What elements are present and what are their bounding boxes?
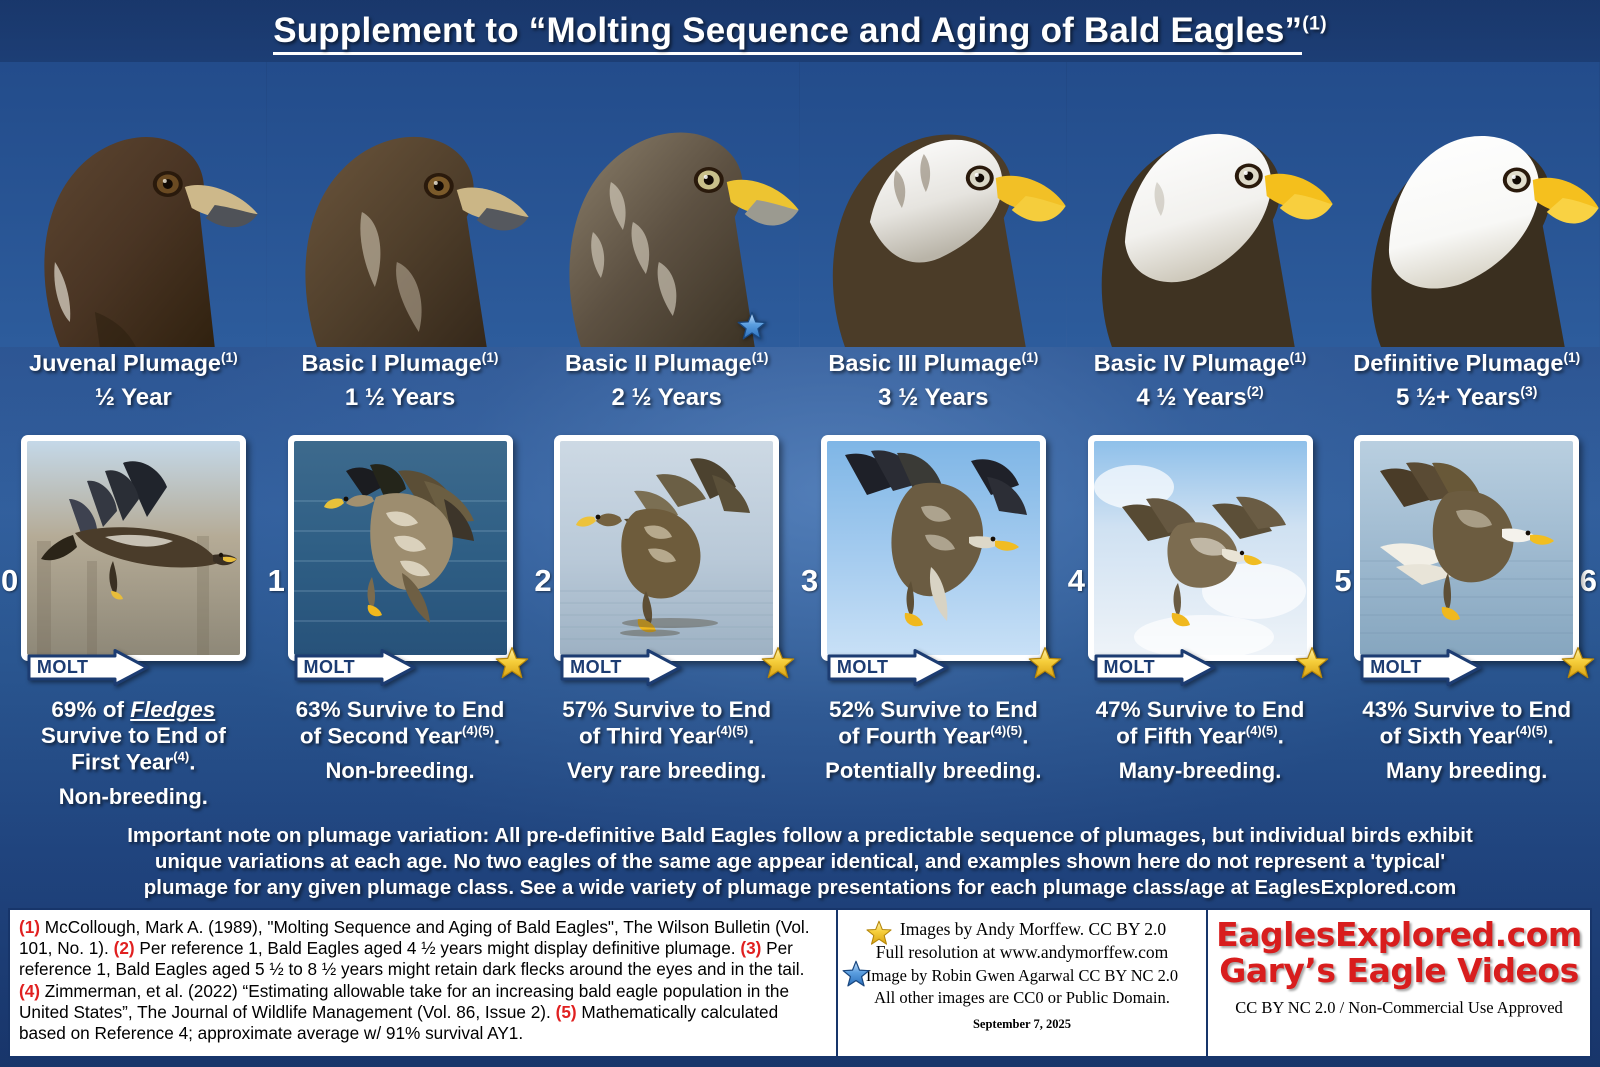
- logo-license-text: CC BY NC 2.0 / Non-Commercial Use Approv…: [1212, 998, 1586, 1018]
- eagle-head-basic-3-icon: [800, 62, 1067, 347]
- plumage-label-5: Definitive Plumage(1) 5 ½+ Years(3): [1333, 350, 1600, 428]
- molt-label-5: MOLT: [1370, 657, 1422, 678]
- flight-photo-frame-3[interactable]: MOLT: [821, 435, 1046, 661]
- survival-sup-2: (4)(5): [716, 723, 748, 738]
- plumage-name-3: Basic III Plumage: [828, 350, 1021, 376]
- survival-period-4: .: [1278, 724, 1284, 749]
- flight-photo-frame-0[interactable]: MOLT: [21, 435, 246, 661]
- survival-line1-2: 57% Survive to End: [537, 697, 796, 723]
- plumage-age-0: ½ Year: [95, 384, 172, 411]
- page-title-superscript: (1): [1302, 12, 1327, 34]
- footer: (1) McCollough, Mark A. (1989), "Molting…: [8, 908, 1592, 1058]
- survival-line2-0: Survive to End of: [4, 723, 263, 749]
- plumage-label-3: Basic III Plumage(1) 3 ½ Years: [800, 350, 1067, 428]
- eagle-head-photo-2: [533, 62, 800, 347]
- stage-index-1: 1: [268, 563, 285, 599]
- flight-photo-cards-row: 0: [0, 435, 1600, 680]
- survival-sup-3: (4)(5): [990, 723, 1022, 738]
- eagle-head-photo-row: [0, 62, 1600, 347]
- plumage-name-4: Basic IV Plumage: [1094, 350, 1290, 376]
- plumage-name-1: Basic I Plumage: [302, 350, 482, 376]
- survival-period-2: .: [748, 724, 754, 749]
- plumage-name-sup-3: (1): [1022, 350, 1039, 365]
- credit-full-resolution: Full resolution at www.andymorffew.com: [844, 941, 1200, 964]
- ref-num-1: (1): [19, 917, 40, 937]
- gold-star-icon-3: [1028, 646, 1062, 680]
- plumage-label-0: Juvenal Plumage(1) ½ Year: [0, 350, 267, 428]
- molt-label-3: MOLT: [837, 657, 889, 678]
- flight-card-cell-4: 4: [1067, 435, 1334, 680]
- ref-num-4: (4): [19, 981, 40, 1001]
- flight-card-cell-0: 0: [0, 435, 267, 680]
- survival-line1-3: 52% Survive to End: [804, 697, 1063, 723]
- survival-line2-2: of Third Year: [579, 724, 716, 749]
- credit-date: September 7, 2025: [844, 1017, 1200, 1032]
- eagle-flight-basic-3-icon: [827, 441, 1040, 655]
- image-credits-box: Images by Andy Morffew. CC BY 2.0 Full r…: [838, 908, 1208, 1058]
- flight-photo-frame-2[interactable]: MOLT: [554, 435, 779, 661]
- flight-card-cell-2: 2: [533, 435, 800, 680]
- eagle-head-definitive-icon: [1333, 62, 1600, 347]
- flight-photo-frame-1[interactable]: MOLT: [288, 435, 513, 661]
- flight-photo-frame-5[interactable]: MOLT: [1354, 435, 1579, 661]
- survival-sup-5: (4)(5): [1516, 723, 1548, 738]
- survival-sup-0: (4): [173, 749, 189, 764]
- eagle-head-basic-1-icon: [267, 62, 534, 347]
- plumage-age-3: 3 ½ Years: [878, 384, 988, 411]
- note-line-3: plumage for any given plumage class. See…: [10, 875, 1590, 901]
- references-box: (1) McCollough, Mark A. (1989), "Molting…: [8, 908, 838, 1058]
- ref-text-2: Per reference 1, Bald Eagles aged 4 ½ ye…: [135, 938, 741, 958]
- eagle-flight-juvenile-icon: [27, 441, 240, 655]
- flight-photo-frame-4[interactable]: MOLT: [1088, 435, 1313, 661]
- plumage-name-sup-0: (1): [221, 350, 238, 365]
- branding-box[interactable]: EaglesExplored.com Gary’s Eagle Videos C…: [1208, 908, 1592, 1058]
- survival-line3-0: First Year: [71, 750, 173, 775]
- gold-star-icon-1: [495, 646, 529, 680]
- plumage-name-sup-1: (1): [482, 350, 499, 365]
- eagle-head-basic-4-icon: [1067, 62, 1334, 347]
- ref-num-3: (3): [740, 938, 761, 958]
- plumage-age-sup-4: (2): [1247, 383, 1264, 399]
- survival-sup-4: (4)(5): [1246, 723, 1278, 738]
- survival-line1-4: 47% Survive to End: [1071, 697, 1330, 723]
- survival-line1-5: 43% Survive to End: [1337, 697, 1596, 723]
- survival-period-5: .: [1547, 724, 1553, 749]
- gold-star-icon-5: [1561, 646, 1595, 680]
- survival-line2-5: of Sixth Year: [1380, 724, 1516, 749]
- plumage-name-sup-4: (1): [1290, 350, 1307, 365]
- ref-num-5: (5): [556, 1002, 577, 1022]
- survival-period-3: .: [1022, 724, 1028, 749]
- molt-arrow-1: MOLT: [294, 649, 416, 686]
- survival-cell-2: 57% Survive to End of Third Year(4)(5). …: [533, 697, 800, 819]
- plumage-name-sup-5: (1): [1563, 350, 1580, 365]
- survival-line1-0: 69% of Fledges: [4, 697, 263, 723]
- eagle-head-photo-0: [0, 62, 267, 347]
- stage-index-2: 2: [534, 563, 551, 599]
- eagle-flight-basic-4-icon: [1094, 441, 1307, 655]
- plumage-age-2: 2 ½ Years: [612, 384, 722, 411]
- molt-arrow-5: MOLT: [1360, 649, 1482, 686]
- stage-index-3: 3: [801, 563, 818, 599]
- gold-star-icon-4: [1295, 646, 1329, 680]
- eagle-head-photo-4: [1067, 62, 1334, 347]
- eagle-flight-definitive-icon: [1360, 441, 1573, 655]
- plumage-variation-note: Important note on plumage variation: All…: [10, 823, 1590, 902]
- molt-arrow-4: MOLT: [1094, 649, 1216, 686]
- logo-channel-name[interactable]: Gary’s Eagle Videos: [1212, 954, 1586, 988]
- plumage-age-1: 1 ½ Years: [345, 384, 455, 411]
- plumage-label-4: Basic IV Plumage(1) 4 ½ Years(2): [1067, 350, 1334, 428]
- survival-line1-1: 63% Survive to End: [271, 697, 530, 723]
- eagle-head-photo-3: [800, 62, 1067, 347]
- credit-robin-agarwal: Image by Robin Gwen Agarwal CC BY NC 2.0: [844, 965, 1200, 987]
- fledges-emphasis: Fledges: [130, 697, 215, 722]
- plumage-age-5: 5 ½+ Years: [1396, 384, 1520, 411]
- breeding-status-0: Non-breeding.: [4, 784, 263, 810]
- molt-arrow-3: MOLT: [827, 649, 949, 686]
- plumage-age-4: 4 ½ Years: [1136, 384, 1246, 411]
- flight-card-cell-5: 5 6: [1333, 435, 1600, 680]
- survival-line2-1: of Second Year: [300, 724, 462, 749]
- poster-root: Supplement to “Molting Sequence and Agin…: [0, 0, 1600, 1067]
- molt-label-2: MOLT: [570, 657, 622, 678]
- breeding-status-2: Very rare breeding.: [537, 758, 796, 784]
- plumage-age-sup-5: (3): [1520, 383, 1537, 399]
- survival-stats-row: 69% of Fledges Survive to End of First Y…: [0, 697, 1600, 819]
- flight-card-cell-1: 1: [267, 435, 534, 680]
- breeding-status-4: Many-breeding.: [1071, 758, 1330, 784]
- page-title: Supplement to “Molting Sequence and Agin…: [0, 0, 1600, 62]
- molt-label-4: MOLT: [1104, 657, 1156, 678]
- flight-card-cell-3: 3: [800, 435, 1067, 680]
- stage-index-6: 6: [1580, 563, 1597, 599]
- molt-arrow-2: MOLT: [560, 649, 682, 686]
- breeding-status-1: Non-breeding.: [271, 758, 530, 784]
- plumage-label-2: Basic II Plumage(1) 2 ½ Years: [533, 350, 800, 428]
- eagle-head-photo-5: [1333, 62, 1600, 347]
- breeding-status-5: Many breeding.: [1337, 758, 1596, 784]
- survival-cell-4: 47% Survive to End of Fifth Year(4)(5). …: [1067, 697, 1334, 819]
- plumage-label-1: Basic I Plumage(1) 1 ½ Years: [267, 350, 534, 428]
- eagle-flight-basic-1-icon: [294, 441, 507, 655]
- survival-sup-1: (4)(5): [462, 723, 494, 738]
- ref-num-2: (2): [114, 938, 135, 958]
- logo-site-name[interactable]: EaglesExplored.com: [1212, 918, 1586, 952]
- molt-label-1: MOLT: [304, 657, 356, 678]
- credit-andy-morffew: Images by Andy Morffew. CC BY 2.0: [844, 918, 1200, 941]
- survival-period-1: .: [494, 724, 500, 749]
- blue-star-icon: [737, 311, 767, 341]
- eagle-head-juvenile-icon: [0, 62, 267, 347]
- note-line-2: unique variations at each age. No two ea…: [10, 849, 1590, 875]
- plumage-labels-row: Juvenal Plumage(1) ½ Year Basic I Plumag…: [0, 350, 1600, 428]
- page-title-text: Supplement to “Molting Sequence and Agin…: [273, 11, 1302, 55]
- survival-line2-4: of Fifth Year: [1116, 724, 1246, 749]
- molt-arrow-0: MOLT: [27, 649, 149, 686]
- note-line-1: Important note on plumage variation: All…: [10, 823, 1590, 849]
- molt-label-0: MOLT: [37, 657, 89, 678]
- plumage-name-0: Juvenal Plumage: [29, 350, 221, 376]
- credit-other-images: All other images are CC0 or Public Domai…: [844, 987, 1200, 1009]
- blue-star-icon-credit: [842, 960, 870, 988]
- stage-index-0: 0: [1, 563, 18, 599]
- plumage-name-sup-2: (1): [752, 350, 769, 365]
- eagle-head-basic-2-icon: [533, 62, 800, 347]
- stage-index-5: 5: [1334, 563, 1351, 599]
- survival-period-0: .: [189, 750, 195, 775]
- eagle-flight-basic-2-icon: [560, 441, 773, 655]
- plumage-name-5: Definitive Plumage: [1353, 350, 1563, 376]
- plumage-name-2: Basic II Plumage: [565, 350, 752, 376]
- stage-index-4: 4: [1068, 563, 1085, 599]
- gold-star-icon-2: [761, 646, 795, 680]
- survival-cell-5: 43% Survive to End of Sixth Year(4)(5). …: [1333, 697, 1600, 819]
- breeding-status-3: Potentially breeding.: [804, 758, 1063, 784]
- survival-cell-0: 69% of Fledges Survive to End of First Y…: [0, 697, 267, 819]
- eagle-head-photo-1: [267, 62, 534, 347]
- survival-line2-3: of Fourth Year: [838, 724, 990, 749]
- survival-cell-1: 63% Survive to End of Second Year(4)(5).…: [267, 697, 534, 819]
- survival-cell-3: 52% Survive to End of Fourth Year(4)(5).…: [800, 697, 1067, 819]
- gold-star-icon-credit: [866, 920, 892, 946]
